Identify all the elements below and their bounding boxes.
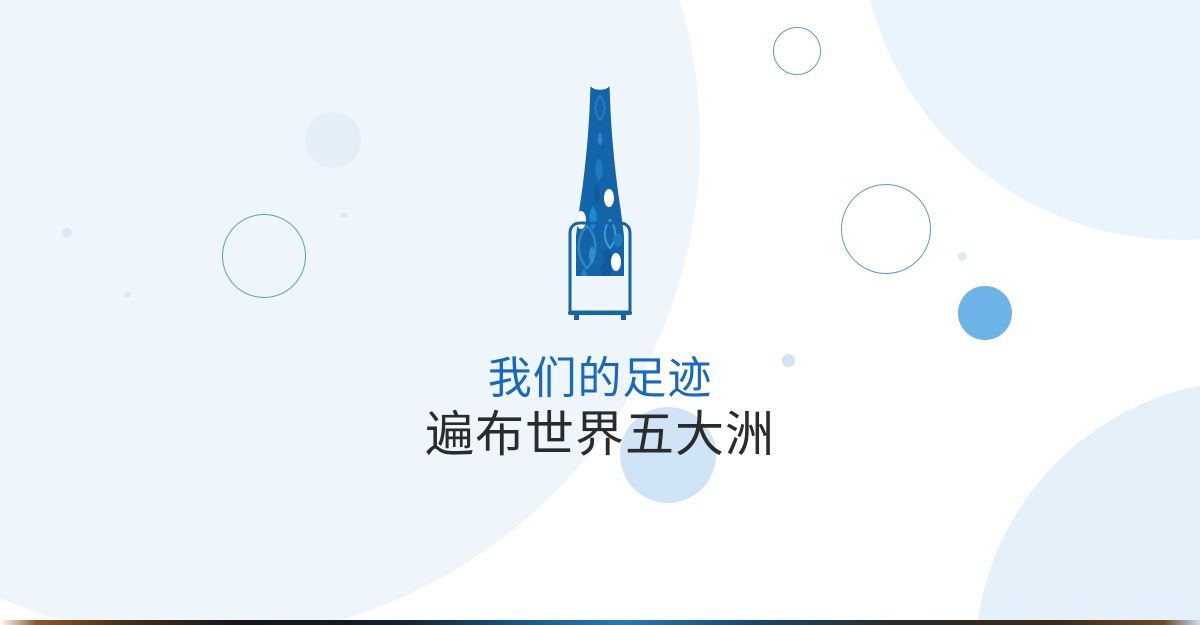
blob-top-right: [860, 0, 1200, 240]
bottle-tower-logo-icon: [550, 80, 650, 330]
accent-dot-far-right: [958, 252, 967, 261]
logo-body-shape: [576, 86, 624, 276]
outline-ring-top: [773, 27, 821, 75]
logo-base-bar: [568, 311, 632, 315]
accent-circle-strong-blue: [958, 286, 1012, 340]
headline-block: 我们的足迹 遍布世界五大洲: [0, 352, 1200, 464]
logo-foot-right: [621, 315, 626, 320]
outline-ring-right: [841, 184, 931, 274]
brand-logo: [550, 80, 650, 330]
outline-ring-left: [222, 214, 306, 298]
accent-dot-left-lower: [124, 291, 131, 298]
accent-dot-left-mid: [341, 212, 347, 218]
slide-canvas: 我们的足迹 遍布世界五大洲: [0, 0, 1200, 625]
headline-line-primary: 我们的足迹: [0, 352, 1200, 406]
blob-soft-left: [305, 112, 361, 168]
headline-line-secondary: 遍布世界五大洲: [0, 406, 1200, 464]
bottom-film-strip: [0, 620, 1200, 625]
logo-foot-left: [574, 315, 579, 320]
accent-dot-left-upper: [62, 228, 72, 238]
